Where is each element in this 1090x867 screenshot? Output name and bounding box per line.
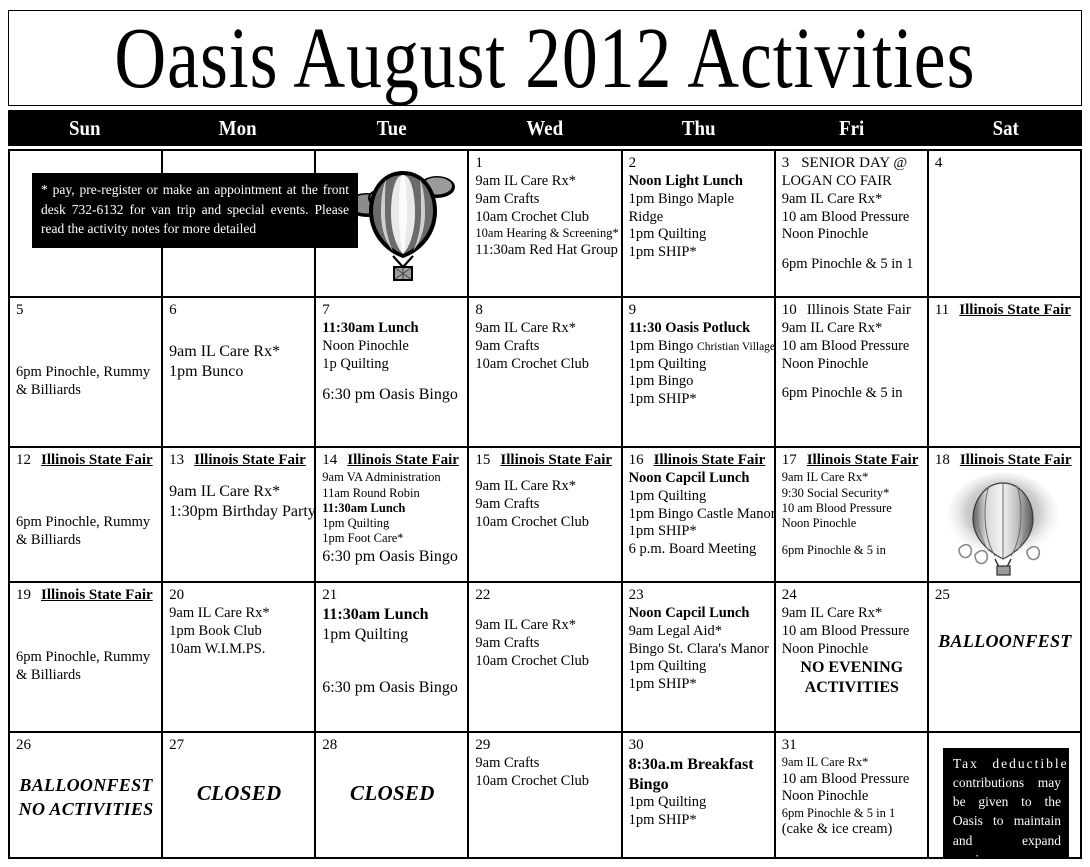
- event-item: 1pm Quilting: [629, 356, 769, 374]
- event-item: 9am Crafts: [475, 635, 615, 653]
- day-number: 11: [935, 302, 949, 318]
- event-item: Noon Pinochle: [322, 338, 462, 356]
- spacer: [16, 342, 156, 364]
- day-cell-12: 12Illinois State Fair 6pm Pinochle, Rumm…: [10, 448, 163, 581]
- weekday-header-row: Sun Mon Tue Wed Thu Fri Sat: [8, 110, 1082, 146]
- event-item: 10 am Blood Pressure: [782, 771, 922, 789]
- day-number: 27: [169, 737, 184, 753]
- illinois-state-fair-label: Illinois State Fair: [959, 302, 1071, 318]
- day-cell-11: 11Illinois State Fair: [929, 298, 1082, 446]
- event-item: 1pm Bingo: [629, 373, 769, 391]
- spacer: [782, 373, 922, 385]
- event-item: 11:30am Lunch: [322, 320, 462, 338]
- day-number: 19: [16, 587, 31, 603]
- event-item: 1pm SHIP*: [629, 391, 769, 409]
- day-cell-10: 10Illinois State Fair 9am IL Care Rx* 10…: [776, 298, 929, 446]
- event-item: 9am Crafts: [475, 191, 615, 209]
- spacer: [169, 320, 309, 342]
- spacer: [475, 470, 615, 478]
- event-item: 6pm Pinochle & 5 in 1: [782, 806, 922, 821]
- illinois-state-fair-label: Illinois State Fair: [654, 452, 766, 468]
- event-item: 1pm Bingo Maple: [629, 191, 769, 209]
- illinois-state-fair-label: Illinois State Fair: [194, 452, 306, 468]
- event-item: & Billiards: [16, 667, 156, 685]
- day-number: 2: [629, 155, 637, 171]
- day-cell-2: 2 Noon Light Lunch 1pm Bingo Maple Ridge…: [623, 151, 776, 296]
- day-cell-18: 18Illinois State Fair: [929, 448, 1082, 581]
- weekday-header-tue: Tue: [323, 110, 461, 146]
- day-number: 7: [322, 302, 330, 318]
- closed-label: CLOSED: [322, 780, 462, 807]
- event-item: 6pm Pinochle, Rummy: [16, 364, 156, 382]
- event-item: 10am Crochet Club: [475, 514, 615, 532]
- day-number: 13: [169, 452, 184, 468]
- event-item: 9am IL Care Rx*: [169, 482, 309, 502]
- event-venue: Christian Village: [697, 341, 775, 353]
- event-item: 11:30am Lunch: [322, 501, 462, 516]
- day-cell-9: 9 11:30 Oasis Potluck 1pm Bingo Christia…: [623, 298, 776, 446]
- weekday-header-sun: Sun: [16, 110, 154, 146]
- spacer: [322, 644, 462, 666]
- day-cell-28: 28 CLOSED: [316, 733, 469, 857]
- event-item: 1pm Book Club: [169, 623, 309, 641]
- day-cell-20: 20 9am IL Care Rx* 1pm Book Club 10am W.…: [163, 583, 316, 731]
- illinois-state-fair-label: Illinois State Fair: [807, 452, 919, 468]
- calendar-page: Oasis August 2012 Activities Sun Mon Tue…: [0, 0, 1090, 867]
- event-item: 9am Crafts: [475, 338, 615, 356]
- calendar-week-row: 19Illinois State Fair 6pm Pinochle, Rumm…: [10, 583, 1082, 733]
- day-number: 17: [782, 452, 797, 468]
- event-item: 9am Legal Aid*: [629, 623, 769, 641]
- event-item: 9am IL Care Rx*: [782, 755, 922, 770]
- day-number: 23: [629, 587, 644, 603]
- event-item: (cake & ice cream): [782, 821, 922, 839]
- event-item: 6pm Pinochle, Rummy: [16, 514, 156, 532]
- event-item: 1pm Quilting: [629, 794, 769, 812]
- event-item: 1pm Foot Care*: [322, 531, 462, 546]
- event-item: Bingo St. Clara's Manor: [629, 641, 769, 659]
- hot-air-balloon-sketch-icon: [945, 471, 1065, 576]
- balloonfest-label: BALLOONFEST: [16, 774, 156, 797]
- event-item: 1pm Quilting: [629, 658, 769, 676]
- event-item: 10am W.I.M.PS.: [169, 641, 309, 659]
- illinois-state-fair-label: Illinois State Fair: [347, 452, 459, 468]
- event-item: 1pm Bingo Castle Manor: [629, 506, 769, 524]
- spacer: [16, 492, 156, 514]
- illinois-state-fair-label: Illinois State Fair: [960, 452, 1072, 468]
- spacer: [782, 244, 922, 256]
- event-item: 10am Hearing & Screening*: [475, 226, 615, 241]
- event-item: 1pm Quilting: [322, 625, 462, 645]
- event-item: 6pm Pinochle & 5 in: [782, 385, 922, 403]
- event-item: Noon Capcil Lunch: [629, 605, 769, 623]
- spacer: [169, 470, 309, 482]
- balloonfest-label: BALLOONFEST: [935, 630, 1075, 653]
- tax-note-body: contributions may be given to the Oasis …: [953, 775, 1061, 857]
- event-item: 10am Crochet Club: [475, 209, 615, 227]
- day-number: 1: [475, 155, 483, 171]
- event-item: 6:30 pm Oasis Bingo: [322, 678, 462, 698]
- event-item: 9:30 Social Security*: [782, 486, 922, 501]
- day-number: 16: [629, 452, 644, 468]
- spacer: [322, 666, 462, 678]
- day-cell-5: 5 6pm Pinochle, Rummy & Billiards: [10, 298, 163, 446]
- day-cell-17: 17Illinois State Fair 9am IL Care Rx* 9:…: [776, 448, 929, 581]
- event-item: 10am Crochet Club: [475, 773, 615, 791]
- no-activities-label: NO ACTIVITIES: [16, 798, 156, 821]
- event-item: 1pm Quilting: [629, 488, 769, 506]
- day-cell-23: 23 Noon Capcil Lunch 9am Legal Aid* Bing…: [623, 583, 776, 731]
- weekday-header-mon: Mon: [169, 110, 307, 146]
- day-number: 5: [16, 302, 24, 318]
- spacer: [16, 605, 156, 627]
- event-item: 9am IL Care Rx*: [475, 478, 615, 496]
- day-cell-24: 24 9am IL Care Rx* 10 am Blood Pressure …: [776, 583, 929, 731]
- tax-note-lead2: deductible: [992, 756, 1068, 771]
- spacer: [782, 531, 922, 543]
- event-item: 10 am Blood Pressure: [782, 338, 922, 356]
- day-number: 12: [16, 452, 31, 468]
- day-number: 26: [16, 737, 31, 753]
- calendar-title-banner: Oasis August 2012 Activities: [8, 10, 1082, 106]
- spacer: [16, 627, 156, 649]
- event-item: Noon Pinochle: [782, 641, 922, 659]
- day-cell-21: 21 11:30am Lunch 1pm Quilting 6:30 pm Oa…: [316, 583, 469, 731]
- calendar-grid: 1 9am IL Care Rx* 9am Crafts 10am Croche…: [8, 149, 1082, 859]
- event-item: 10 am Blood Pressure: [782, 209, 922, 227]
- event-text: 1pm Bingo: [629, 338, 694, 354]
- event-item: 1p Quilting: [322, 356, 462, 374]
- event-item: 11am Round Robin: [322, 486, 462, 501]
- no-evening-activities-line1: NO EVENING: [782, 658, 922, 678]
- day-cell-8: 8 9am IL Care Rx* 9am Crafts 10am Croche…: [469, 298, 622, 446]
- event-item: Noon Pinochle: [782, 226, 922, 244]
- event-item: 9am Crafts: [475, 755, 615, 773]
- illinois-state-fair-label: Illinois State Fair: [807, 302, 911, 318]
- event-item: 9am IL Care Rx*: [475, 617, 615, 635]
- event-item: 9am IL Care Rx*: [782, 320, 922, 338]
- day-cell-6: 6 9am IL Care Rx* 1pm Bunco: [163, 298, 316, 446]
- calendar-week-row: 5 6pm Pinochle, Rummy & Billiards 6 9am …: [10, 298, 1082, 448]
- no-evening-activities-line2: ACTIVITIES: [782, 678, 922, 698]
- event-item: Bingo: [629, 775, 769, 795]
- day-number: 20: [169, 587, 184, 603]
- day-cell-19: 19Illinois State Fair 6pm Pinochle, Rumm…: [10, 583, 163, 731]
- spacer: [322, 373, 462, 385]
- weekday-header-sat: Sat: [936, 110, 1074, 146]
- event-item: 11:30 Oasis Potluck: [629, 320, 769, 338]
- event-item: & Billiards: [16, 532, 156, 550]
- day-cell-16: 16Illinois State Fair Noon Capcil Lunch …: [623, 448, 776, 581]
- closed-label: CLOSED: [169, 780, 309, 807]
- event-item: 9am IL Care Rx*: [782, 191, 922, 209]
- day-number: 6: [169, 302, 177, 318]
- tax-note-lead: Tax: [953, 756, 979, 771]
- event-item: 9am VA Administration: [322, 470, 462, 485]
- weekday-header-fri: Fri: [783, 110, 921, 146]
- event-item: 1pm Quilting: [629, 226, 769, 244]
- event-item: Ridge: [629, 209, 769, 227]
- event-item: 1pm SHIP*: [629, 244, 769, 262]
- event-item: 6pm Pinochle & 5 in: [782, 543, 922, 558]
- weekday-header-thu: Thu: [629, 110, 767, 146]
- day-cell-15: 15Illinois State Fair 9am IL Care Rx* 9a…: [469, 448, 622, 581]
- day-cell-27: 27 CLOSED: [163, 733, 316, 857]
- day-cell-3: 3SENIOR DAY @ LOGAN CO FAIR 9am IL Care …: [776, 151, 929, 296]
- day-number: 21: [322, 587, 337, 603]
- calendar-week-row: 26 BALLOONFEST NO ACTIVITIES 27 CLOSED 2…: [10, 733, 1082, 859]
- day-number: 31: [782, 737, 797, 753]
- event-item: 9am IL Care Rx*: [169, 342, 309, 362]
- event-item: 10 am Blood Pressure: [782, 623, 922, 641]
- event-item: 1pm SHIP*: [629, 523, 769, 541]
- event-item: 6pm Pinochle & 5 in 1: [782, 256, 922, 274]
- event-item: 8:30a.m Breakfast: [629, 755, 769, 775]
- illinois-state-fair-label: Illinois State Fair: [41, 587, 153, 603]
- day-number: 25: [935, 587, 950, 603]
- day-cell-22: 22 9am IL Care Rx* 9am Crafts 10am Croch…: [469, 583, 622, 731]
- event-item: 1pm Bunco: [169, 362, 309, 382]
- day-cell-30: 30 8:30a.m Breakfast Bingo 1pm Quilting …: [623, 733, 776, 857]
- day-number: 28: [322, 737, 337, 753]
- event-item: Noon Light Lunch: [629, 173, 769, 191]
- event-item: Noon Pinochle: [782, 516, 922, 531]
- day-cell-14: 14Illinois State Fair 9am VA Administrat…: [316, 448, 469, 581]
- event-item: 10 am Blood Pressure: [782, 501, 922, 516]
- spacer: [16, 320, 156, 342]
- day-number: 24: [782, 587, 797, 603]
- event-item: 11:30am Red Hat Group: [475, 242, 615, 260]
- event-item: 9am IL Care Rx*: [782, 470, 922, 485]
- event-item: 11:30am Lunch: [322, 605, 462, 625]
- calendar-week-row: 1 9am IL Care Rx* 9am Crafts 10am Croche…: [10, 151, 1082, 298]
- event-item: 10am Crochet Club: [475, 653, 615, 671]
- day-number: 14: [322, 452, 337, 468]
- day-number: 18: [935, 452, 950, 468]
- hot-air-balloon-icon: [345, 163, 457, 285]
- event-item: 6pm Pinochle, Rummy: [16, 649, 156, 667]
- event-item: Noon Pinochle: [782, 356, 922, 374]
- event-item: 9am IL Care Rx*: [475, 320, 615, 338]
- event-item: & Billiards: [16, 382, 156, 400]
- illinois-state-fair-label: Illinois State Fair: [500, 452, 612, 468]
- spacer: [16, 470, 156, 492]
- day-number: 3: [782, 155, 790, 171]
- event-item: 1pm Bingo Christian Village: [629, 338, 769, 356]
- day-cell-tax-note: Tax deductible contributions may be give…: [929, 733, 1082, 857]
- day-cell-7: 7 11:30am Lunch Noon Pinochle 1p Quiltin…: [316, 298, 469, 446]
- logan-co-fair-label: LOGAN CO FAIR: [782, 173, 922, 191]
- day-number: 4: [935, 155, 943, 171]
- event-item: 6:30 pm Oasis Bingo: [322, 547, 462, 567]
- event-item: 9am IL Care Rx*: [169, 605, 309, 623]
- day-cell-29: 29 9am Crafts 10am Crochet Club: [469, 733, 622, 857]
- event-item: Noon Pinochle: [782, 788, 922, 806]
- day-cell-31: 31 9am IL Care Rx* 10 am Blood Pressure …: [776, 733, 929, 857]
- event-item: 1:30pm Birthday Party: [169, 502, 309, 522]
- day-number: 29: [475, 737, 490, 753]
- event-item: 9am Crafts: [475, 496, 615, 514]
- day-number: 8: [475, 302, 483, 318]
- calendar-week-row: 12Illinois State Fair 6pm Pinochle, Rumm…: [10, 448, 1082, 583]
- day-cell-25: 25 BALLOONFEST: [929, 583, 1082, 731]
- weekday-header-wed: Wed: [476, 110, 614, 146]
- day-number: 15: [475, 452, 490, 468]
- event-item: 6:30 pm Oasis Bingo: [322, 385, 462, 405]
- tax-deductible-note-box: Tax deductible contributions may be give…: [943, 748, 1069, 857]
- event-item: Noon Capcil Lunch: [629, 470, 769, 488]
- day-number: 30: [629, 737, 644, 753]
- event-item: 1pm SHIP*: [629, 676, 769, 694]
- asterisk-note-box: * pay, pre-register or make an appointme…: [32, 173, 358, 248]
- day-number: 10: [782, 302, 797, 318]
- event-item: 9am IL Care Rx*: [475, 173, 615, 191]
- day-cell-26: 26 BALLOONFEST NO ACTIVITIES: [10, 733, 163, 857]
- event-item: 6 p.m. Board Meeting: [629, 541, 769, 559]
- spacer: [475, 605, 615, 617]
- day-number: 9: [629, 302, 637, 318]
- event-item: 9am IL Care Rx*: [782, 605, 922, 623]
- day-cell-13: 13Illinois State Fair 9am IL Care Rx* 1:…: [163, 448, 316, 581]
- event-item: 10am Crochet Club: [475, 356, 615, 374]
- page-title: Oasis August 2012 Activities: [114, 14, 975, 101]
- illinois-state-fair-label: Illinois State Fair: [41, 452, 153, 468]
- day-cell-1: 1 9am IL Care Rx* 9am Crafts 10am Croche…: [469, 151, 622, 296]
- senior-day-label: SENIOR DAY @: [801, 155, 907, 171]
- event-item: 1pm Quilting: [322, 516, 462, 531]
- day-number: 22: [475, 587, 490, 603]
- event-item: 1pm SHIP*: [629, 812, 769, 830]
- day-cell-4: 4: [929, 151, 1082, 296]
